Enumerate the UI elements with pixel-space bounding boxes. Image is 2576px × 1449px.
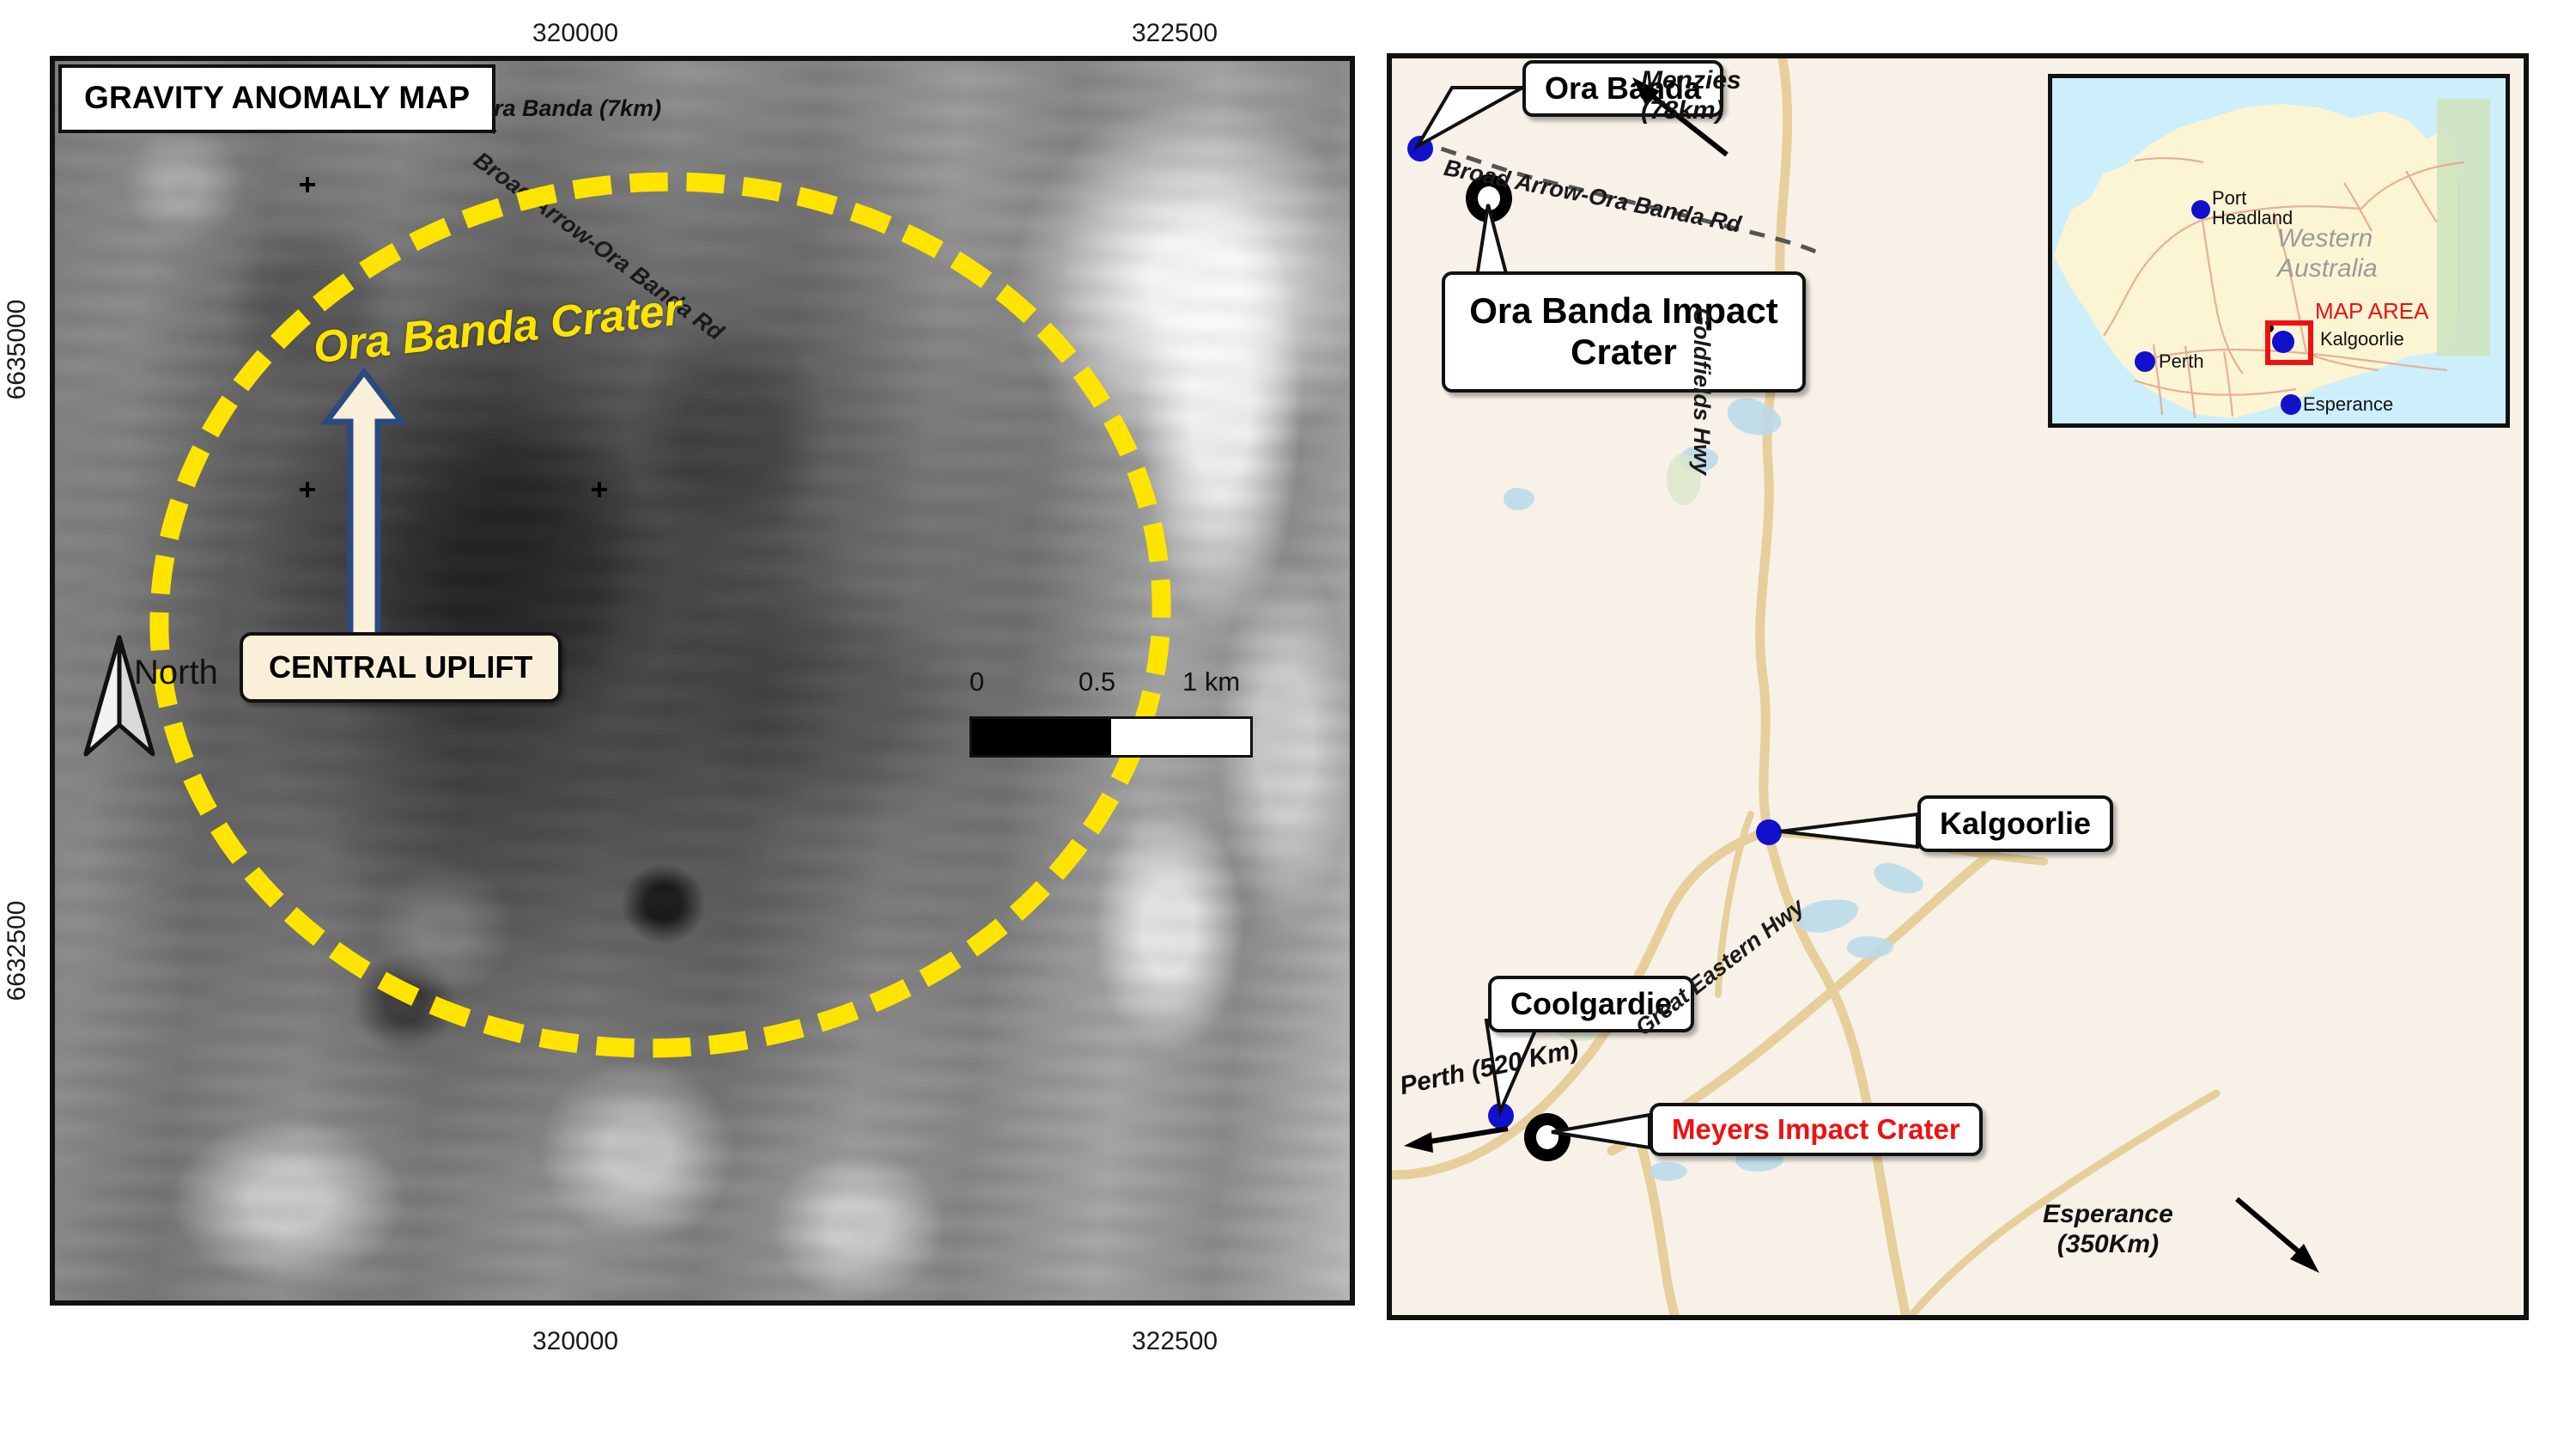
regional-location-panel: Ora Banda Ora Banda Impact Crater Kalgoo… [1387, 53, 2529, 1320]
inset-label-port-headland-line2: Headland [2212, 208, 2293, 228]
inset-dot-perth[interactable] [2135, 351, 2155, 372]
ora-banda-distance-label: Ora Banda (7km) [476, 95, 661, 122]
town-marker-ora-banda[interactable] [1407, 136, 1433, 161]
north-label: North [134, 654, 218, 692]
x-axis-tick-bottom-1: 320000 [532, 1327, 618, 1356]
inset-dot-esperance[interactable] [2281, 394, 2301, 415]
x-axis-tick-top-1: 320000 [532, 19, 618, 48]
direction-label-menzies-line1: Menzies [1641, 65, 1741, 95]
direction-label-esperance-line1: Esperance [2043, 1199, 2173, 1229]
town-marker-kalgoorlie[interactable] [1756, 819, 1782, 845]
gravity-anomaly-panel: 320000 322500 320000 322500 6635000 6632… [0, 0, 1374, 1449]
scalebar-tick-1km: 1 km [1182, 667, 1240, 697]
direction-label-menzies: Menzies (78km) [1641, 65, 1741, 126]
scalebar-tick-half: 0.5 [1078, 667, 1115, 697]
inset-region-name-line1: Western [2277, 224, 2378, 254]
direction-label-esperance-line2: (350Km) [2043, 1229, 2173, 1259]
perth-direction-arrow-icon [1400, 1113, 1512, 1165]
direction-label-menzies-line2: (78km) [1641, 95, 1741, 125]
crater-marker-meyers[interactable] [1524, 1113, 1571, 1161]
inset-region-name: Western Australia [2277, 224, 2378, 283]
map-area-highlight-box [2265, 320, 2313, 365]
inset-region-name-line2: Australia [2277, 254, 2378, 284]
direction-label-esperance: Esperance (350Km) [2043, 1199, 2173, 1260]
scale-bar-graphic [969, 716, 1253, 758]
callout-ora-banda-impact-crater[interactable]: Ora Banda Impact Crater [1442, 271, 1806, 393]
gravity-raster-frame: Ora Banda (7km) Broad Arrow-Ora Banda Rd… [50, 56, 1355, 1306]
scale-bar-segment-black [972, 719, 1111, 755]
broad-arrow-road-dashed-line [364, 56, 811, 58]
y-axis-tick-left-2: 6632500 [3, 895, 32, 1007]
inset-label-kalgoorlie: Kalgoorlie [2320, 329, 2404, 349]
inset-label-port-headland: Port Headland [2212, 188, 2293, 228]
inset-dot-port-headland[interactable] [2191, 200, 2210, 219]
scale-bar: 0 0.5 1 km [969, 667, 1253, 758]
x-axis-tick-top-2: 322500 [1132, 19, 1218, 48]
page-title: GRAVITY ANOMALY MAP [58, 64, 495, 133]
inset-label-perth: Perth [2159, 351, 2204, 371]
central-uplift-label: CENTRAL UPLIFT [240, 632, 562, 703]
map-area-label: MAP AREA [2315, 298, 2428, 325]
inset-label-esperance: Esperance [2303, 394, 2393, 414]
scale-bar-segment-white [1111, 719, 1250, 755]
scalebar-tick-0: 0 [969, 667, 984, 697]
callout-kalgoorlie[interactable]: Kalgoorlie [1917, 795, 2113, 852]
esperance-direction-arrow-icon [2230, 1194, 2333, 1280]
x-axis-tick-bottom-2: 322500 [1132, 1327, 1218, 1356]
inset-locator-map: Western Australia Port Headland MAP AREA… [2048, 74, 2510, 428]
north-arrow-icon [81, 632, 158, 761]
callout-meyers-impact-crater[interactable]: Meyers Impact Crater [1649, 1103, 1983, 1156]
inset-label-port-headland-line1: Port [2212, 188, 2293, 208]
road-label-goldfields-hwy: Goldfields Hwy [1688, 307, 1715, 475]
y-axis-tick-left-1: 6635000 [3, 294, 32, 405]
central-uplift-arrow-icon [313, 368, 416, 678]
